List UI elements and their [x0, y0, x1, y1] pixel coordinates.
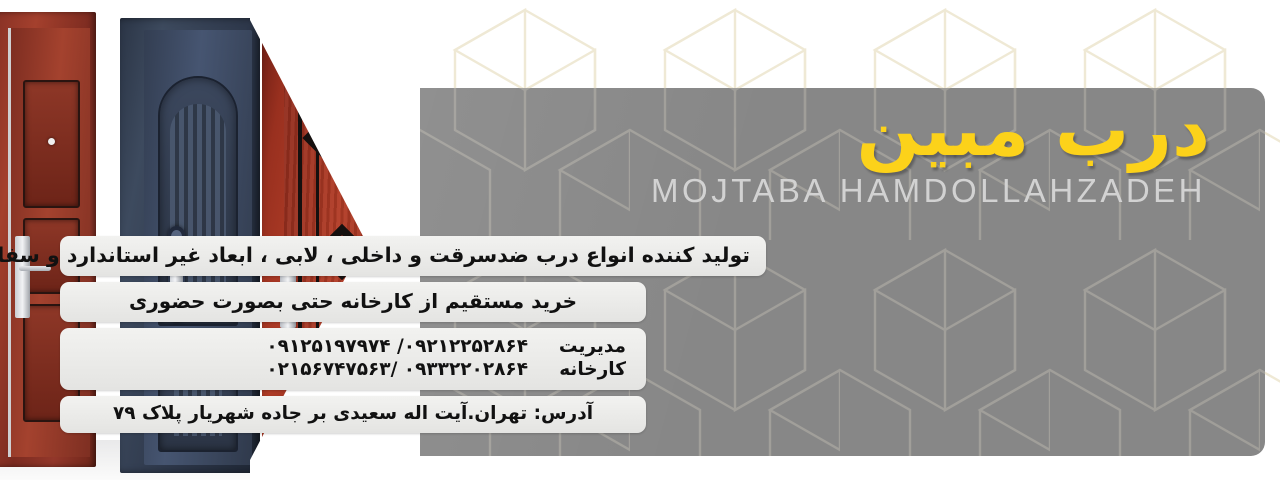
headline-block: درب مبین MOJTABA HAMDOLLAHZADEH [0, 92, 1220, 210]
page-subtitle: MOJTABA HAMDOLLAHZADEH [0, 172, 1220, 210]
banner-address: آدرس: تهران.آیت اله سعیدی بر جاده شهریار… [60, 396, 646, 433]
contact-row-management: مدیریت ۰۹۲۱۲۲۵۲۸۶۴/ ۰۹۱۲۵۱۹۷۹۷۴ [80, 335, 626, 358]
page-title: درب مبین [0, 92, 1220, 170]
banner-stage: درب مبین MOJTABA HAMDOLLAHZADEH تولید کن… [0, 0, 1280, 480]
contact-numbers-management[interactable]: ۰۹۲۱۲۲۵۲۸۶۴/ ۰۹۱۲۵۱۹۷۹۷۴ [266, 336, 528, 357]
contact-label-management: مدیریت [554, 336, 626, 357]
banner-products: تولید کننده انواع درب ضدسرقت و داخلی ، ل… [60, 236, 766, 276]
info-banners: تولید کننده انواع درب ضدسرقت و داخلی ، ل… [60, 236, 1220, 433]
contact-row-factory: کارخانه ۰۹۳۳۲۲۰۲۸۶۴ /۰۲۱۵۶۷۴۷۵۶۳ [80, 358, 626, 381]
contact-numbers-factory[interactable]: ۰۹۳۳۲۲۰۲۸۶۴ /۰۲۱۵۶۷۴۷۵۶۳ [266, 359, 528, 380]
contact-label-factory: کارخانه [554, 359, 626, 380]
peephole-icon [342, 83, 349, 90]
banner-contacts: مدیریت ۰۹۲۱۲۲۵۲۸۶۴/ ۰۹۱۲۵۱۹۷۹۷۴ کارخانه … [60, 328, 646, 390]
banner-purchase: خرید مستقیم از کارخانه حتی بصورت حضوری [60, 282, 646, 322]
